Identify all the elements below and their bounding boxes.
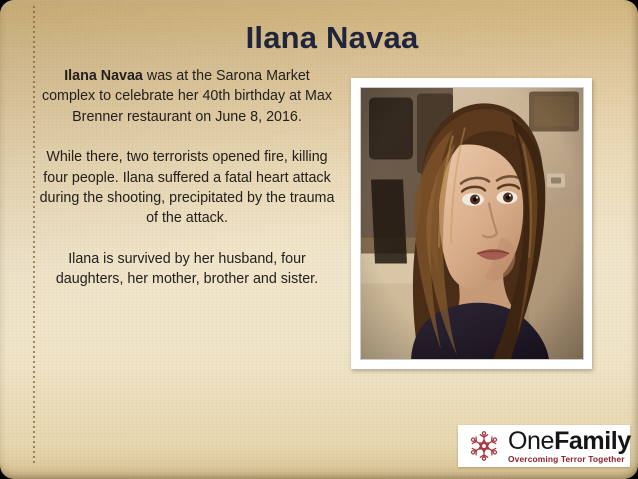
- paragraph-2: While there, two terrorists opened fire,…: [36, 147, 338, 229]
- onefamily-logo: OneFamily Overcoming Terror Together: [458, 425, 630, 467]
- slide: Ilana Navaa Ilana Navaa was at the Saron…: [0, 0, 638, 479]
- page-title: Ilana Navaa: [40, 17, 624, 59]
- logo-name-one: One: [508, 427, 554, 455]
- onefamily-wordmark: OneFamily Overcoming Terror Together: [508, 428, 631, 463]
- lead-name: Ilana Navaa: [64, 68, 143, 84]
- onefamily-star-icon: [464, 429, 504, 463]
- onefamily-tagline: Overcoming Terror Together: [508, 455, 631, 463]
- dotted-margin-rule: [33, 6, 35, 463]
- photo-frame: [351, 78, 592, 369]
- onefamily-name: OneFamily: [508, 428, 631, 454]
- body-copy: Ilana Navaa was at the Sarona Market com…: [36, 66, 338, 290]
- paragraph-1: Ilana Navaa was at the Sarona Market com…: [36, 66, 338, 127]
- logo-name-family: Family: [554, 427, 631, 455]
- portrait-photo: [360, 87, 584, 360]
- paragraph-3: Ilana is survived by her husband, four d…: [36, 249, 338, 290]
